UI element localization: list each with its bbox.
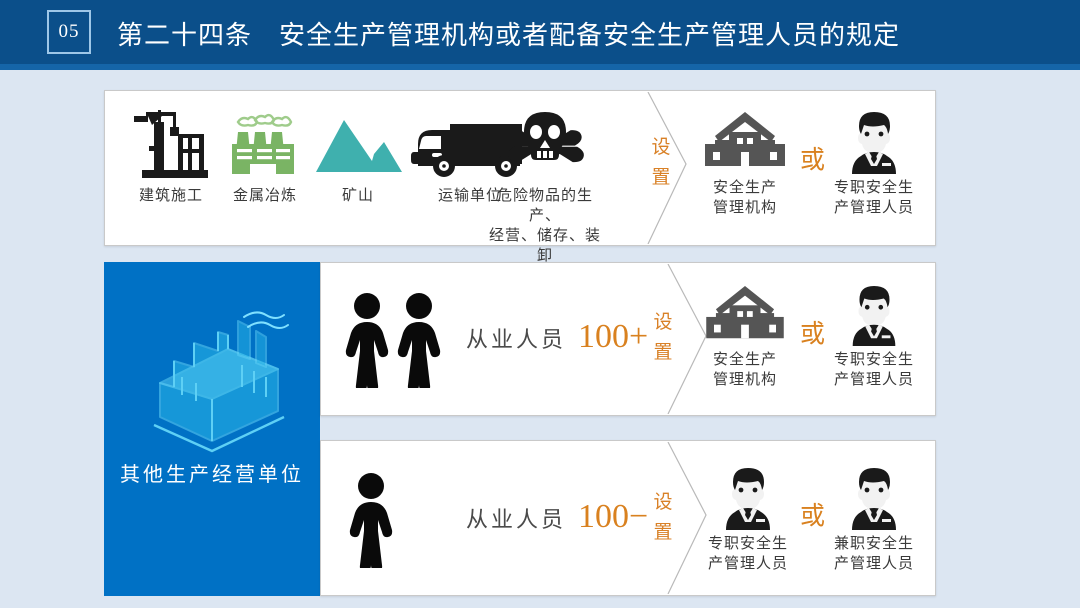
connector-char-2: 置 bbox=[648, 163, 674, 193]
connector-char-2: 置 bbox=[650, 338, 676, 368]
building-icon bbox=[701, 284, 789, 346]
row1-result-officer: 专职安全生 产管理人员 bbox=[828, 110, 920, 218]
slide-canvas: 05 第二十四条 安全生产管理机构或者配备安全生产管理人员的规定 bbox=[0, 0, 1080, 608]
row2-result-agency: 安全生产 管理机构 bbox=[702, 284, 788, 390]
officer-icon bbox=[838, 284, 910, 346]
result-label: 专职安全生 产管理人员 bbox=[834, 178, 914, 218]
officer-icon bbox=[838, 110, 910, 174]
row2-count-label: 从业人员 bbox=[466, 322, 566, 354]
connector-char-2: 置 bbox=[650, 518, 676, 548]
two-people-icon bbox=[338, 292, 448, 393]
connector-char-1: 设 bbox=[650, 308, 676, 338]
row2-connector-label: 设置 bbox=[650, 308, 676, 368]
row2-result-officer: 专职安全生 产管理人员 bbox=[828, 284, 920, 390]
header-underline bbox=[0, 64, 1080, 70]
skull-icon bbox=[502, 106, 588, 182]
row1-connector-label: 设置 bbox=[648, 133, 674, 193]
isometric-factory-icon bbox=[104, 280, 320, 480]
row2-count: 从业人员 100+ bbox=[466, 318, 648, 356]
industry-item-smelting: 金属冶炼 bbox=[222, 106, 308, 206]
row2-count-value: 100+ bbox=[578, 318, 648, 356]
officer-icon bbox=[838, 466, 910, 530]
mountain-icon bbox=[312, 106, 404, 182]
row3-count: 从业人员 100− bbox=[466, 498, 648, 536]
industry-label: 建筑施工 bbox=[139, 186, 203, 206]
industry-label: 矿山 bbox=[342, 186, 374, 206]
industry-item-construction: 建筑施工 bbox=[128, 106, 214, 206]
building-icon bbox=[701, 110, 789, 174]
row1-result-agency: 安全生产 管理机构 bbox=[702, 110, 788, 218]
row2-or-label: 或 bbox=[800, 314, 825, 350]
industry-item-mining: 矿山 bbox=[312, 106, 404, 206]
one-person-icon bbox=[338, 472, 404, 573]
row3-result-fulltime: 专职安全生 产管理人员 bbox=[702, 466, 794, 574]
result-label: 安全生产 管理机构 bbox=[713, 178, 777, 218]
row1-or-label: 或 bbox=[800, 140, 825, 176]
industry-item-hazardous: 危险物品的生产、 经营、储存、装卸 单位 bbox=[485, 106, 605, 286]
crane-icon bbox=[129, 106, 213, 182]
row3-count-value: 100− bbox=[578, 498, 648, 536]
result-label: 兼职安全生 产管理人员 bbox=[834, 534, 914, 574]
page-title: 第二十四条 安全生产管理机构或者配备安全生产管理人员的规定 bbox=[117, 13, 900, 53]
industry-label: 金属冶炼 bbox=[233, 186, 297, 206]
row3-count-label: 从业人员 bbox=[466, 502, 566, 534]
connector-char-1: 设 bbox=[650, 488, 676, 518]
result-label: 安全生产 管理机构 bbox=[713, 350, 777, 390]
row3-connector-label: 设置 bbox=[650, 488, 676, 548]
connector-char-1: 设 bbox=[648, 133, 674, 163]
officer-icon bbox=[712, 466, 784, 530]
section-number-badge: 05 bbox=[47, 10, 91, 54]
row3-result-parttime: 兼职安全生 产管理人员 bbox=[828, 466, 920, 574]
result-label: 专职安全生 产管理人员 bbox=[834, 350, 914, 390]
other-entities-panel: 其他生产经营单位 bbox=[104, 262, 320, 596]
row3-or-label: 或 bbox=[800, 496, 825, 532]
factory-icon bbox=[224, 106, 306, 182]
other-entities-label: 其他生产经营单位 bbox=[104, 458, 320, 487]
result-label: 专职安全生 产管理人员 bbox=[708, 534, 788, 574]
